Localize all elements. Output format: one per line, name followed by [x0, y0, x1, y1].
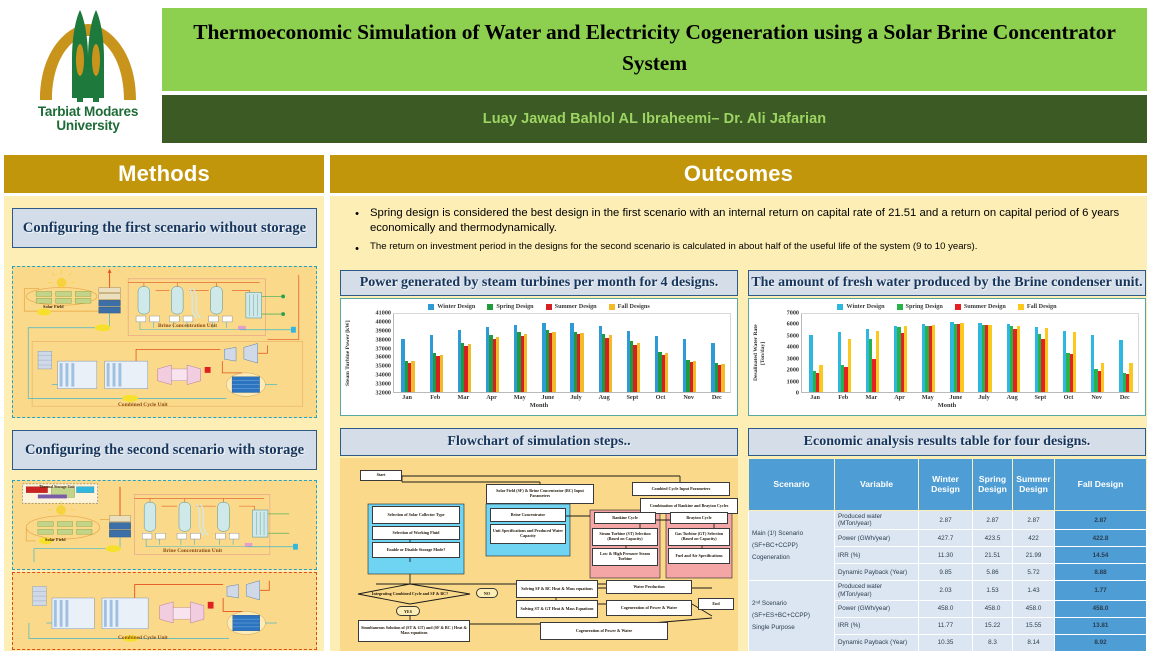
table-cell-winter: 458.0 [919, 600, 973, 617]
chart-y-tick-label: 6000 [787, 321, 799, 328]
chart-x-tick-label: Aug [998, 394, 1026, 401]
table-cell-winter: 9.85 [919, 564, 973, 581]
chart-bar [411, 361, 414, 392]
chart-x-tick-label: July [970, 394, 998, 401]
flowchart-decision-integrating: Integrating Combined Cycle and SF & BC? [366, 584, 454, 604]
diagram2-caption-ccu: Combined Cycle Unit [118, 635, 168, 641]
table-cell-summer: 5.72 [1013, 564, 1055, 581]
legend-swatch-icon [487, 304, 493, 310]
section-label-outcomes: Outcomes [684, 161, 793, 187]
section-label-methods: Methods [118, 161, 210, 187]
flowchart-node-brayton: Brayton Cycle [670, 512, 728, 524]
table-cell-fall: 8.92 [1055, 634, 1147, 651]
chart-x-tick-label: Feb [829, 394, 857, 401]
legend-item: Winter Design [837, 303, 884, 310]
legend-label: Summer Design [555, 303, 597, 310]
scenario1-process-diagram: Brine Concentration Unit Combined Cycle … [12, 266, 317, 418]
table-cell-scenario: 2ⁿᵈ Scenario(SF+ES+BC+CCPP)Single Purpos… [749, 581, 835, 651]
diagram1-caption-ccu: Combined Cycle Unit [118, 402, 168, 408]
table-cell-winter: 10.35 [919, 634, 973, 651]
flowchart-node-storage-mode: Enable or Disable Storage Mode? [372, 542, 460, 558]
chart-bar [960, 323, 963, 392]
chart-bar-group [422, 314, 450, 392]
chart-x-tick-label: Apr [885, 394, 913, 401]
table-body: Main (1ᵗ) Scenario(SF+BC+CCPP)Cogenerati… [749, 511, 1147, 652]
chart-x-tick-label: Mar [449, 394, 477, 401]
chart-bar [819, 365, 822, 392]
table-cell-summer: 1.43 [1013, 581, 1055, 600]
chart-bar-group [858, 314, 886, 392]
chart-bar-group [887, 314, 915, 392]
chart2-title-bar: The amount of fresh water produced by th… [748, 270, 1146, 296]
flowchart-node-brine-conc: Brine Concentrator [490, 508, 566, 522]
chart-x-tick-label: Oct [1054, 394, 1082, 401]
table-column-header: Variable [835, 459, 919, 511]
flowchart-node-gt-sel: Gas Turbine (GT) Selection (Based on Cap… [668, 528, 730, 546]
logo-line-1: Tarbiat Modares [38, 105, 138, 119]
chart-y-tick-label: 33000 [376, 381, 391, 388]
table-cell-fall: 1.77 [1055, 581, 1147, 600]
legend-swatch-icon [609, 304, 615, 310]
economic-analysis-table-wrap: ScenarioVariableWinter DesignSpring Desi… [748, 458, 1146, 651]
legend-swatch-icon [955, 304, 961, 310]
chart-fresh-water: Winter DesignSpring DesignSummer DesignF… [748, 298, 1146, 416]
legend-label: Summer Design [964, 303, 1006, 310]
table-title: Economic analysis results table for four… [804, 434, 1091, 450]
bullet-item-2: • The return on investment period in the… [344, 241, 1132, 256]
table-cell-summer: 458.0 [1013, 600, 1055, 617]
flowchart-node-lp-hp: Low & High Pressure Steam Turbine [592, 548, 658, 566]
legend-label: Spring Design [906, 303, 943, 310]
chart-y-tick-label: 32000 [376, 390, 391, 397]
bullet-marker-icon: • [344, 241, 370, 256]
chart-x-tick-label: Dec [1111, 394, 1139, 401]
chart-y-tick-label: 35000 [376, 363, 391, 370]
chart-x-tick-labels: JanFebMarAprMayJuneJulyAugSeptOctNovDec [801, 394, 1139, 401]
chart-x-tick-label: Mar [857, 394, 885, 401]
table-cell-spring: 423.5 [973, 530, 1013, 547]
authors-bar: Luay Jawad Bahlol AL Ibraheemi– Dr. Ali … [162, 95, 1147, 143]
scenario2-process-diagram-top: Brine Concentration Unit Solar Field The… [12, 480, 317, 570]
chart-bar-group [450, 314, 478, 392]
authors-list: Luay Jawad Bahlol AL Ibraheemi– Dr. Ali … [483, 111, 827, 127]
table-cell-variable: Power (GWh/year) [835, 530, 919, 547]
university-logo: Tarbiat Modares University [14, 8, 162, 148]
chart-bar-group [915, 314, 943, 392]
table-cell-variable: Produced water (MTon/year) [835, 511, 919, 530]
table-cell-scenario: Main (1ᵗ) Scenario(SF+BC+CCPP)Cogenerati… [749, 511, 835, 581]
chart-x-tick-label: May [914, 394, 942, 401]
legend-swatch-icon [897, 304, 903, 310]
chart-x-axis-title: Month [749, 402, 1145, 409]
chart-bar-group [1084, 314, 1112, 392]
flowchart-node-cc-input: Combied Cycle Input Parameters [632, 482, 730, 496]
flowchart-node-unit-spec: Unit Specifications and Produced Water C… [490, 524, 566, 544]
table-column-header: Spring Design [973, 459, 1013, 511]
chart-x-tick-label: Jan [393, 394, 421, 401]
chart-bar [524, 334, 527, 392]
chart-y-tick-label: 5000 [787, 332, 799, 339]
table-cell-variable: IRR (%) [835, 617, 919, 634]
chart-bar-group [830, 314, 858, 392]
table-cell-summer: 21.99 [1013, 547, 1055, 564]
table-cell-fall: 422.8 [1055, 530, 1147, 547]
logo-mark-icon [28, 8, 148, 104]
chart2-title: The amount of fresh water produced by th… [751, 275, 1142, 291]
table-cell-winter: 427.7 [919, 530, 973, 547]
chart-bar [496, 337, 499, 392]
flowchart-node-water-prod: Water Production [606, 580, 692, 594]
chart-y-tick-label: 4000 [787, 344, 799, 351]
chart-bar [988, 325, 991, 392]
chart-x-tick-label: June [942, 394, 970, 401]
diagram2-caption-bcu: Brine Concentration Unit [163, 548, 222, 554]
chart-bar [609, 335, 612, 392]
table-row: 2ⁿᵈ Scenario(SF+ES+BC+CCPP)Single Purpos… [749, 581, 1147, 600]
scenario1-diagram-svg [13, 267, 315, 416]
chart-bar-group [999, 314, 1027, 392]
chart-power-generated: Winter DesignSpring DesignSummer DesignF… [340, 298, 738, 416]
table-cell-winter: 2.03 [919, 581, 973, 600]
section-title-outcomes: Outcomes [330, 155, 1147, 193]
table-row: Main (1ᵗ) Scenario(SF+BC+CCPP)Cogenerati… [749, 511, 1147, 530]
legend-swatch-icon [837, 304, 843, 310]
chart-bar [693, 361, 696, 392]
table-column-header: Winter Design [919, 459, 973, 511]
flowchart-node-cogen1: Cogeneration of Power & Water [606, 600, 692, 616]
table-cell-fall: 14.54 [1055, 547, 1147, 564]
flowchart-node-rankine: Rankine Cycle [594, 512, 656, 524]
table-cell-winter: 11.77 [919, 617, 973, 634]
chart-x-tick-label: June [534, 394, 562, 401]
bullet-marker-icon: • [344, 206, 370, 221]
chart-legend: Winter DesignSpring DesignSummer DesignF… [341, 301, 737, 312]
flowchart-node-cogen2: Cogeneration of Power & Water [540, 622, 668, 640]
legend-swatch-icon [1018, 304, 1024, 310]
diagram2-label-solar-field: Solar Field [45, 537, 66, 542]
flowchart-node-st-sel: Steam Turbine (ST) Selection (Based on C… [592, 528, 658, 546]
table-title-bar: Economic analysis results table for four… [748, 428, 1146, 456]
table-cell-spring: 21.51 [973, 547, 1013, 564]
chart-y-tick-label: 38000 [376, 336, 391, 343]
legend-item: Spring Design [487, 303, 533, 310]
chart-y-ticks: 01000200030004000500060007000 [779, 313, 799, 393]
logo-text: Tarbiat Modares University [38, 105, 138, 133]
title-bar: Thermoeconomic Simulation of Water and E… [162, 8, 1147, 91]
legend-label: Fall Design [1027, 303, 1057, 310]
flowchart-node-solve-sfbc: Solving SF & BC Heat & Mass equations [516, 580, 598, 598]
section-title-methods: Methods [4, 155, 324, 193]
legend-item: Fall Designs [609, 303, 650, 310]
table-cell-summer: 422 [1013, 530, 1055, 547]
legend-item: Spring Design [897, 303, 943, 310]
chart-x-tick-label: Feb [421, 394, 449, 401]
table-header-row: ScenarioVariableWinter DesignSpring Desi… [749, 459, 1147, 511]
legend-swatch-icon [428, 304, 434, 310]
chart-bar [1017, 326, 1020, 392]
poster-root: Tarbiat Modares University Thermoeconomi… [0, 0, 1159, 655]
chart-x-tick-label: Apr [477, 394, 505, 401]
poster-header: Tarbiat Modares University Thermoeconomi… [0, 0, 1159, 150]
chart-bar [468, 344, 471, 392]
chart-bar [552, 332, 555, 392]
scenario-line: Cogeneration [752, 552, 831, 564]
table-cell-variable: Power (GWh/year) [835, 600, 919, 617]
table-cell-summer: 8.14 [1013, 634, 1055, 651]
table-cell-summer: 2.87 [1013, 511, 1055, 530]
table-cell-fall: 458.0 [1055, 600, 1147, 617]
chart-bar [1101, 363, 1104, 392]
chart-bar [665, 353, 668, 392]
scenario-line: (SF+BC+CCPP) [752, 540, 831, 552]
chart-x-tick-label: Jan [801, 394, 829, 401]
chart-bar [1045, 328, 1048, 392]
table-cell-fall: 13.81 [1055, 617, 1147, 634]
logo-line-2: University [38, 119, 138, 133]
flowchart-node-fuel-air: Fuel and Air Specifications [668, 548, 730, 564]
chart-bar-group [507, 314, 535, 392]
flowchart-node-solve-stgt: Solving ST & GT Heat & Mass Equations [516, 600, 598, 618]
scenario2-process-diagram-bottom: Combined Cycle Unit [12, 572, 317, 650]
legend-swatch-icon [546, 304, 552, 310]
chart-y-tick-label: 34000 [376, 372, 391, 379]
table-column-header: Scenario [749, 459, 835, 511]
chart-bar-group [802, 314, 830, 392]
chart-y-tick-label: 39000 [376, 327, 391, 334]
table-cell-variable: Produced water (MTon/year) [835, 581, 919, 600]
legend-item: Fall Design [1018, 303, 1057, 310]
methods-scenario1-label: Configuring the first scenario without s… [23, 220, 306, 237]
table-cell-winter: 2.87 [919, 511, 973, 530]
flowchart-title-bar: Flowchart of simulation steps.. [340, 428, 738, 456]
table-cell-variable: Dynamic Payback (Year) [835, 634, 919, 651]
table-cell-winter: 11.30 [919, 547, 973, 564]
chart-bar [848, 339, 851, 392]
legend-label: Winter Design [437, 303, 475, 310]
table-cell-spring: 458.0 [973, 600, 1013, 617]
chart-bar [904, 326, 907, 392]
table-head: ScenarioVariableWinter DesignSpring Desi… [749, 459, 1147, 511]
chart-bar-group [1056, 314, 1084, 392]
chart-bar-group [648, 314, 676, 392]
table-cell-fall: 8.88 [1055, 564, 1147, 581]
chart-bar-group [479, 314, 507, 392]
chart-bar-group [535, 314, 563, 392]
flowchart-branch-no: NO [476, 588, 498, 598]
scenario2-top-svg [13, 481, 315, 568]
chart-bar-group [704, 314, 732, 392]
chart-x-tick-label: Oct [646, 394, 674, 401]
chart-y-axis-title: Desalinated Water Rate [Ton/day] [753, 313, 763, 393]
table-column-header: Summer Design [1013, 459, 1055, 511]
chart-y-tick-label: 1000 [787, 378, 799, 385]
chart-plot-area [801, 313, 1139, 393]
flowchart-title: Flowchart of simulation steps.. [447, 434, 630, 450]
table-cell-summer: 15.55 [1013, 617, 1055, 634]
table-cell-spring: 2.87 [973, 511, 1013, 530]
flowchart-node-sel-fluid: Selection of Working Fluid [372, 526, 460, 540]
scenario-line: 2ⁿᵈ Scenario [752, 598, 831, 610]
outcomes-bullet-list: • Spring design is considered the best d… [338, 202, 1140, 264]
table-cell-spring: 15.22 [973, 617, 1013, 634]
flowchart-node-start: Start [360, 470, 402, 481]
table-cell-spring: 5.86 [973, 564, 1013, 581]
chart-bar [1073, 332, 1076, 392]
diagram2-label-thermal-storage: Thermal Storage Unit [39, 485, 75, 489]
chart-legend: Winter DesignSpring DesignSummer DesignF… [749, 301, 1145, 312]
table-cell-variable: Dynamic Payback (Year) [835, 564, 919, 581]
chart-bar [1129, 363, 1132, 392]
chart-bar-group [563, 314, 591, 392]
chart-bar [440, 355, 443, 392]
chart-y-tick-label: 37000 [376, 345, 391, 352]
chart-x-tick-label: Nov [675, 394, 703, 401]
table-cell-variable: IRR (%) [835, 547, 919, 564]
diagram1-label-solar-field: Solar Field [43, 304, 64, 309]
flowchart-diagram: StartSolar Field (SF) & Brine Concentrat… [340, 458, 738, 651]
chart-bar-group [676, 314, 704, 392]
scenario-line: (SF+ES+BC+CCPP) [752, 610, 831, 622]
chart-x-tick-label: Nov [1083, 394, 1111, 401]
chart-bar [637, 343, 640, 392]
chart-bar-group [971, 314, 999, 392]
flowchart-node-end: End [698, 598, 734, 610]
chart1-title: Power generated by steam turbines per mo… [360, 275, 719, 291]
economic-analysis-table: ScenarioVariableWinter DesignSpring Desi… [748, 458, 1147, 652]
chart-x-tick-label: May [506, 394, 534, 401]
chart-x-tick-labels: JanFebMarAprMayJuneJulyAugSeptOctNovDec [393, 394, 731, 401]
poster-title: Thermoeconomic Simulation of Water and E… [178, 17, 1131, 78]
chart-bar-group [394, 314, 422, 392]
chart-bar-group [591, 314, 619, 392]
flowchart-node-sel-collector: Selection of Solar Collector Type [372, 506, 460, 524]
chart-plot-area [393, 313, 731, 393]
table-cell-fall: 2.87 [1055, 511, 1147, 530]
legend-label: Spring Design [496, 303, 533, 310]
chart-y-tick-label: 40000 [376, 318, 391, 325]
legend-item: Summer Design [546, 303, 597, 310]
chart-x-tick-label: Dec [703, 394, 731, 401]
chart-x-tick-label: Sept [618, 394, 646, 401]
legend-label: Fall Designs [618, 303, 650, 310]
legend-item: Winter Design [428, 303, 475, 310]
chart-y-tick-label: 7000 [787, 310, 799, 317]
bullet-item-1: • Spring design is considered the best d… [344, 206, 1132, 236]
methods-scenario1-heading: Configuring the first scenario without s… [12, 208, 317, 248]
chart-y-tick-label: 3000 [787, 355, 799, 362]
chart-bar-group [619, 314, 647, 392]
flowchart-node-simul: Simultaneous Solution of (ST & GT) and (… [358, 620, 470, 642]
table-cell-spring: 8.3 [973, 634, 1013, 651]
chart-y-tick-label: 0 [796, 390, 799, 397]
flowchart-branch-yes: YES [396, 606, 420, 616]
chart-bar-group [1027, 314, 1055, 392]
chart-x-tick-label: Sept [1026, 394, 1054, 401]
chart-x-tick-label: Aug [590, 394, 618, 401]
table-cell-spring: 1.53 [973, 581, 1013, 600]
chart-y-ticks: 3200033000340003500036000370003800039000… [367, 313, 391, 393]
chart-bar [580, 333, 583, 392]
chart-bar [721, 364, 724, 392]
chart-y-tick-label: 41000 [376, 310, 391, 317]
chart-y-tick-label: 2000 [787, 367, 799, 374]
chart-bar-group [1112, 314, 1140, 392]
bullet-text-1: Spring design is considered the best des… [370, 206, 1132, 236]
table-column-header: Fall Design [1055, 459, 1147, 511]
legend-label: Winter Design [846, 303, 884, 310]
diagram1-caption-bcu: Brine Concentration Unit [158, 323, 217, 329]
chart-y-axis-title: Steam Turbine Power [kW] [345, 313, 355, 393]
chart-bar [932, 325, 935, 392]
chart-bar-group [943, 314, 971, 392]
chart-x-axis-title: Month [341, 402, 737, 409]
legend-item: Summer Design [955, 303, 1006, 310]
methods-scenario2-label: Configuring the second scenario with sto… [25, 442, 304, 459]
bullet-text-2: The return on investment period in the d… [370, 241, 977, 253]
chart-bar [876, 331, 879, 392]
scenario-line: Main (1ᵗ) Scenario [752, 528, 831, 540]
chart-x-tick-label: July [562, 394, 590, 401]
scenario-line: Single Purpose [752, 622, 831, 634]
chart-y-tick-label: 36000 [376, 354, 391, 361]
chart1-title-bar: Power generated by steam turbines per mo… [340, 270, 738, 296]
methods-scenario2-heading: Configuring the second scenario with sto… [12, 430, 317, 470]
flowchart-node-sf-bc-input: Solar Field (SF) & Brine Concentrator (B… [486, 484, 594, 504]
